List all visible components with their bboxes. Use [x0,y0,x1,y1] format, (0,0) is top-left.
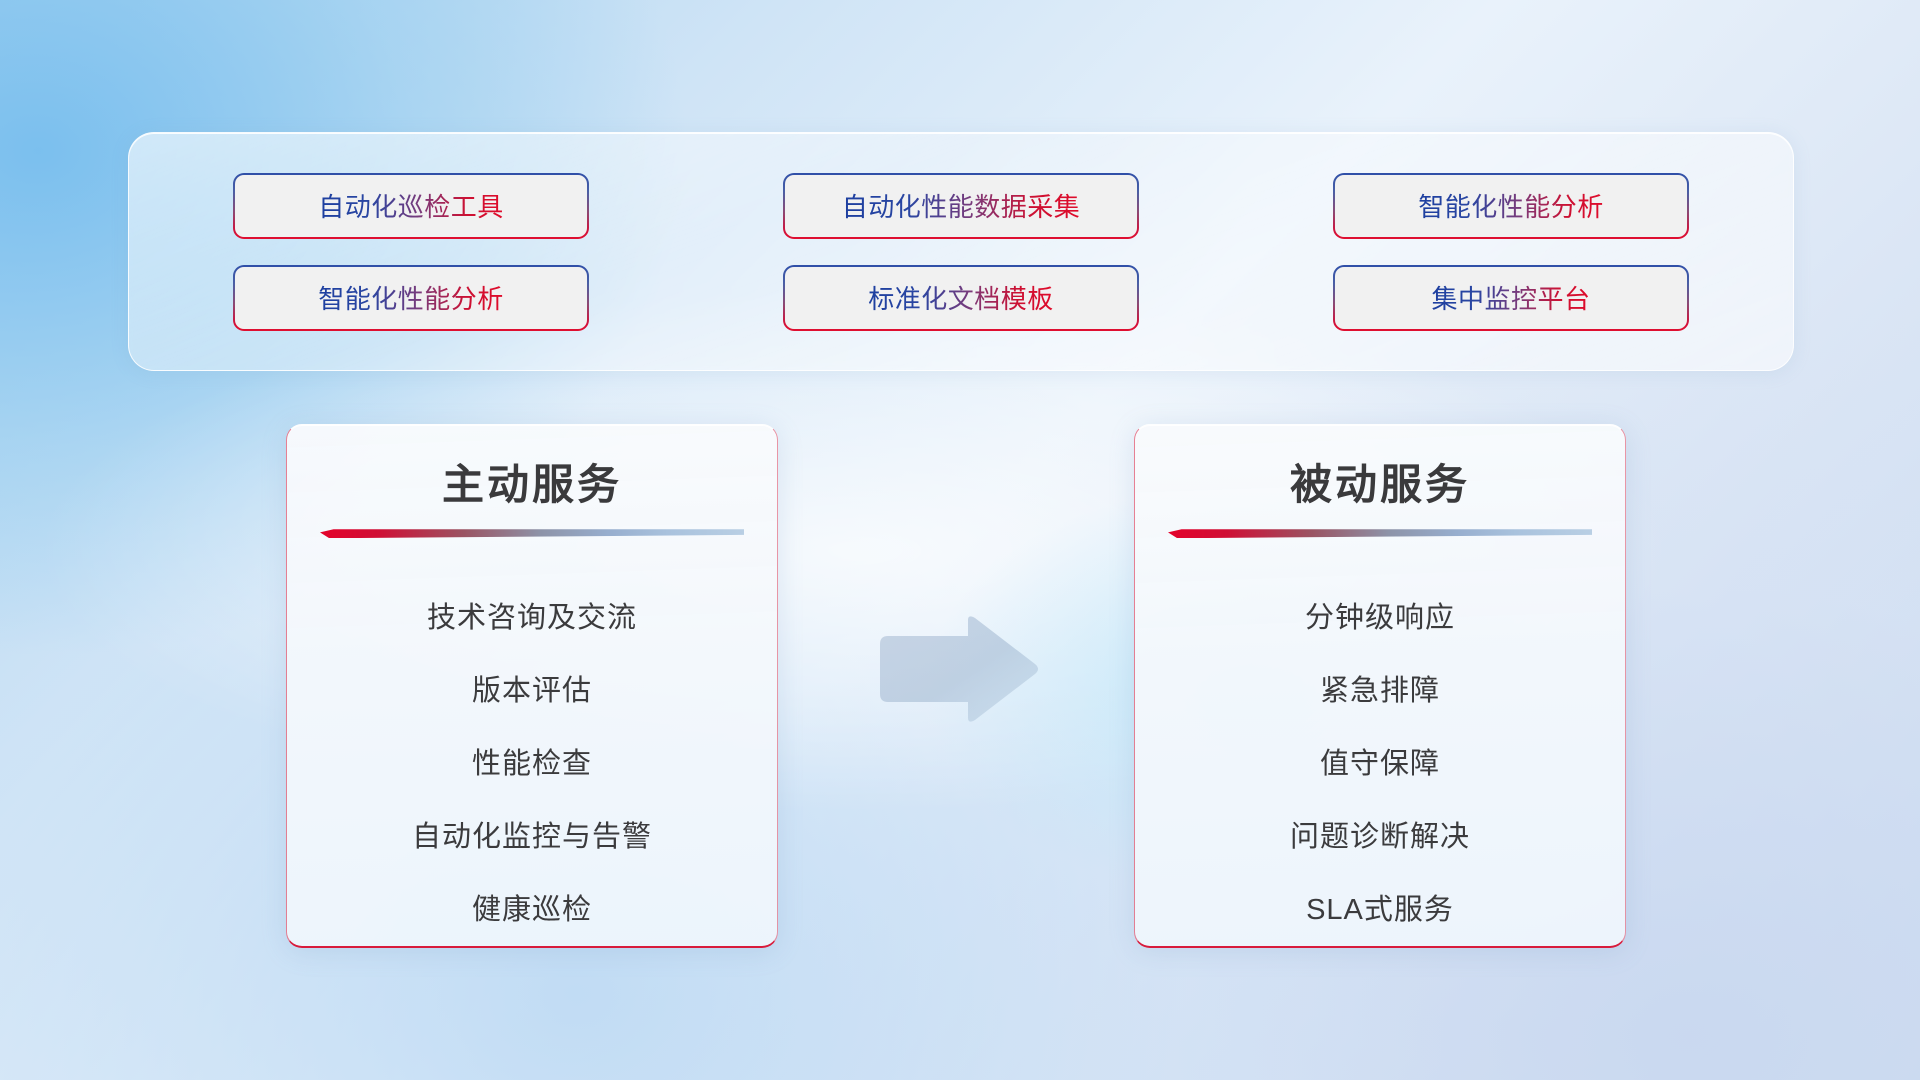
list-item: 性能检查 [472,724,592,797]
list-item: 技术咨询及交流 [427,578,637,651]
service-card-proactive: 主动服务 技术咨询及交流 版本评估 性能检查 自动化监控与告警 健康巡检 [286,424,778,948]
list-item: 版本评估 [472,651,592,724]
arrow-right-icon [872,614,1040,724]
capability-pill[interactable]: 自动化巡检工具 [233,173,589,239]
capability-pill[interactable]: 标准化文档模板 [783,265,1139,331]
service-card-reactive: 被动服务 分钟级响应 紧急排障 值守保障 问题诊断解决 SLA式服务 [1134,424,1626,948]
capability-pill-label: 自动化巡检工具 [318,187,504,224]
card-list: 技术咨询及交流 版本评估 性能检查 自动化监控与告警 健康巡检 [287,578,777,943]
list-item: SLA式服务 [1306,870,1454,943]
card-divider [1168,529,1592,538]
list-item: 问题诊断解决 [1290,797,1470,870]
capability-pill-label: 标准化文档模板 [868,279,1054,316]
card-divider [320,529,744,538]
capability-pill-label: 智能化性能分析 [318,279,504,316]
list-item: 分钟级响应 [1305,578,1455,651]
list-item: 健康巡检 [472,870,592,943]
card-divider-bar [1168,529,1592,538]
capability-pill-label: 智能化性能分析 [1418,187,1604,224]
card-list: 分钟级响应 紧急排障 值守保障 问题诊断解决 SLA式服务 [1135,578,1625,943]
list-item: 紧急排障 [1320,651,1440,724]
capability-pill[interactable]: 集中监控平台 [1333,265,1689,331]
capability-pill-label: 自动化性能数据采集 [842,187,1081,224]
capabilities-panel: 自动化巡检工具 自动化性能数据采集 智能化性能分析 智能化性能分析 标准化文档模… [128,132,1794,371]
card-divider-bar [320,529,744,538]
capability-pill-label: 集中监控平台 [1431,279,1590,316]
capabilities-row-1: 自动化巡检工具 自动化性能数据采集 智能化性能分析 [129,173,1793,239]
card-title: 主动服务 [442,461,622,509]
capability-pill[interactable]: 自动化性能数据采集 [783,173,1139,239]
capabilities-row-2: 智能化性能分析 标准化文档模板 集中监控平台 [129,265,1793,331]
card-title: 被动服务 [1290,461,1470,509]
list-item: 自动化监控与告警 [412,797,652,870]
list-item: 值守保障 [1320,724,1440,797]
capability-pill[interactable]: 智能化性能分析 [233,265,589,331]
slide-canvas: 自动化巡检工具 自动化性能数据采集 智能化性能分析 智能化性能分析 标准化文档模… [0,0,1920,1080]
capability-pill[interactable]: 智能化性能分析 [1333,173,1689,239]
